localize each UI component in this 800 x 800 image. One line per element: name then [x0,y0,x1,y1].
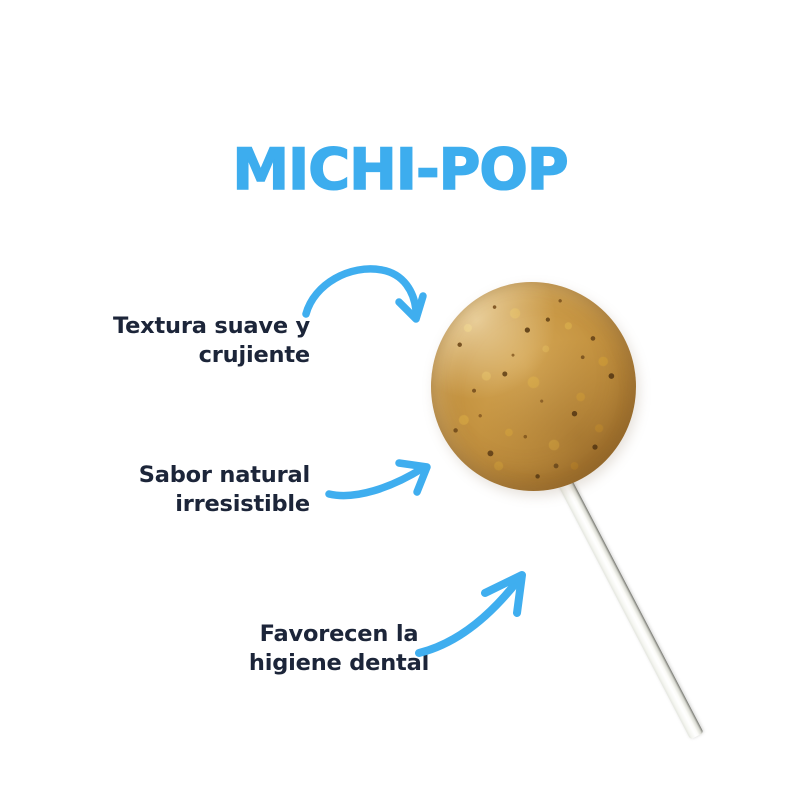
lollipop-stick [552,467,704,740]
arrow-swoosh-right-icon [325,448,445,514]
feature-label-flavor: Sabor natural irresistible [92,461,310,520]
product-infographic: MICHI-POP Textura suave y crujiente Sabo… [0,0,800,800]
feature-label-texture: Textura suave y crujiente [62,312,310,371]
product-image-lollipop [0,0,800,800]
lollipop-candy-head [431,282,636,491]
feature-label-dental: Favorecen la higiene dental [240,620,438,679]
arrow-curve-down-right-icon [300,258,430,338]
arrow-up-right-icon [415,535,550,660]
